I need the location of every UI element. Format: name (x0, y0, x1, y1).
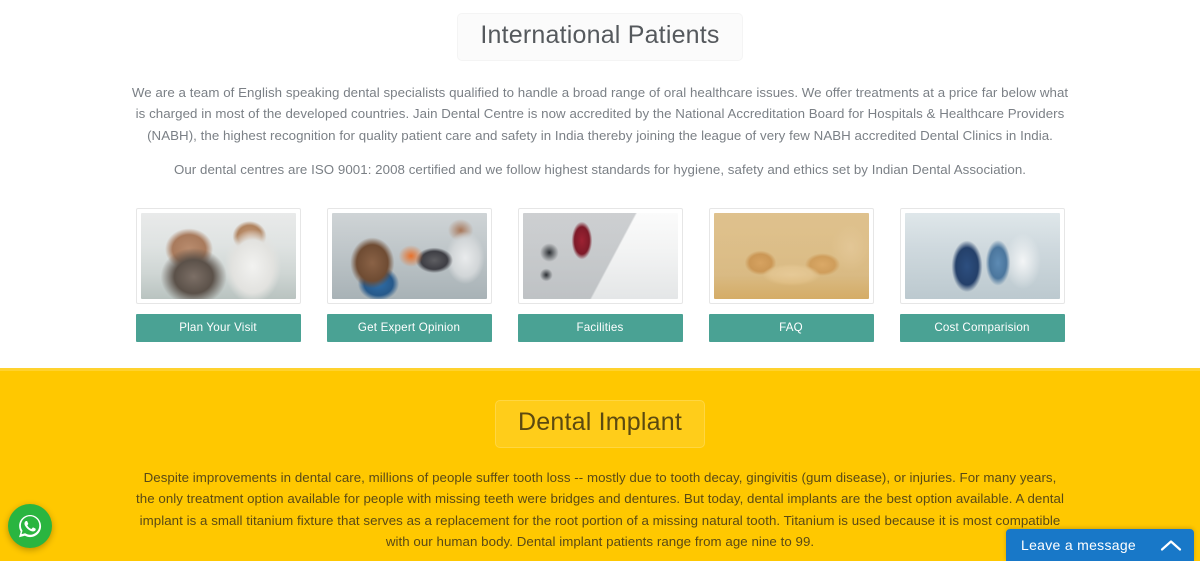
international-patients-section: International Patients We are a team of … (0, 0, 1200, 368)
hands-writing-on-paper-photo (714, 213, 869, 299)
doctor-holding-blue-clipboard-photo (905, 213, 1060, 299)
heading-wrap: Dental Implant (0, 401, 1200, 447)
chat-widget-label: Leave a message (1021, 537, 1136, 553)
service-card-faq[interactable]: FAQ (709, 208, 874, 343)
whatsapp-button[interactable] (8, 504, 52, 548)
cost-comparision-button[interactable]: Cost Comparision (900, 314, 1065, 343)
page-title: International Patients (458, 14, 741, 60)
service-card-row: Plan Your Visit Get Expert Opinion Facil… (0, 208, 1200, 343)
dental-implant-paragraph: Despite improvements in dental care, mil… (135, 467, 1065, 553)
card-photo-frame (327, 208, 492, 304)
intro-paragraph-1: We are a team of English speaking dental… (130, 82, 1070, 147)
heading-wrap: International Patients (0, 14, 1200, 60)
service-card-facilities[interactable]: Facilities (518, 208, 683, 343)
facilities-button[interactable]: Facilities (518, 314, 683, 343)
faq-button[interactable]: FAQ (709, 314, 874, 343)
card-photo-frame (136, 208, 301, 304)
chat-widget[interactable]: Leave a message (1006, 529, 1194, 561)
intro-paragraph-2: Our dental centres are ISO 9001: 2008 ce… (130, 159, 1070, 181)
doctor-with-stethoscope-and-tablet-photo (523, 213, 678, 299)
service-card-plan-your-visit[interactable]: Plan Your Visit (136, 208, 301, 343)
card-photo-frame (709, 208, 874, 304)
service-card-get-expert-opinion[interactable]: Get Expert Opinion (327, 208, 492, 343)
dental-implant-title: Dental Implant (496, 401, 704, 447)
whatsapp-icon (15, 511, 45, 541)
get-expert-opinion-button[interactable]: Get Expert Opinion (327, 314, 492, 343)
card-photo-frame (900, 208, 1065, 304)
plan-your-visit-button[interactable]: Plan Your Visit (136, 314, 301, 343)
service-card-cost-comparision[interactable]: Cost Comparision (900, 208, 1065, 343)
dentist-showing-xray-to-child-photo (332, 213, 487, 299)
chevron-up-icon[interactable] (1160, 538, 1182, 552)
dentist-examining-patient-in-chair-photo (141, 213, 296, 299)
card-photo-frame (518, 208, 683, 304)
